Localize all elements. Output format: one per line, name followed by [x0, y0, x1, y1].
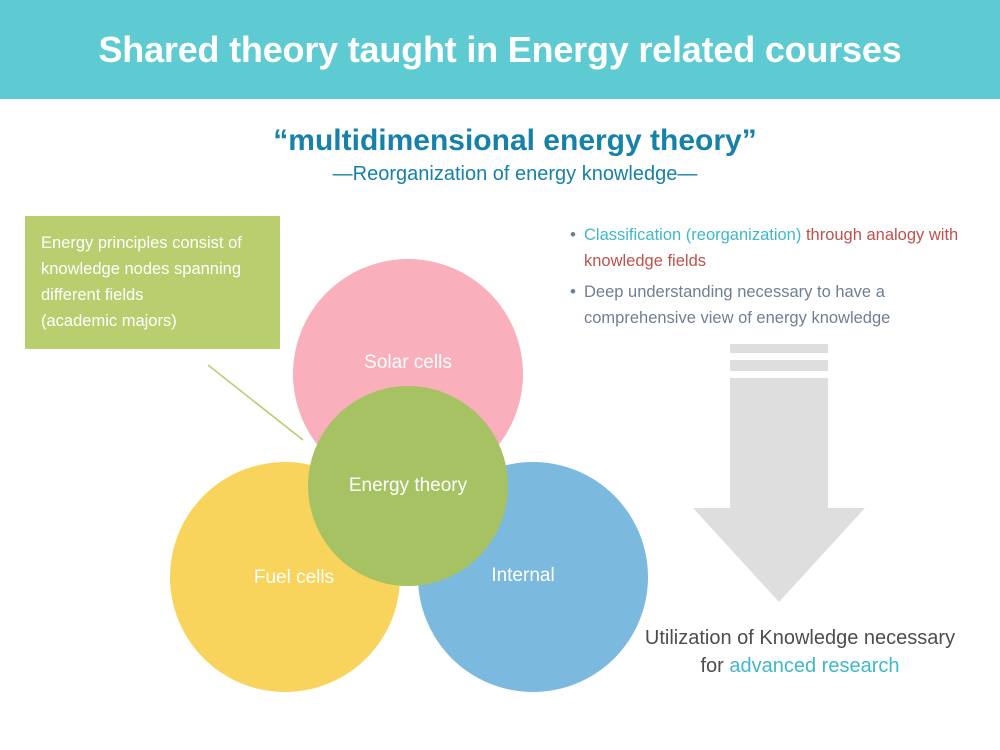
note-line: (academic majors): [41, 308, 264, 334]
caption-prefix: for: [700, 655, 729, 677]
bullet-item: • Classification (reorganization) throug…: [570, 222, 990, 274]
note-callout-box: Energy principles consist of knowledge n…: [25, 216, 280, 349]
subtitle-block: “multidimensional energy theory” —Reorga…: [0, 124, 1000, 186]
venn-label-solar-cells: Solar cells: [364, 352, 452, 374]
venn-label-fuel-cells: Fuel cells: [254, 567, 334, 589]
bullet-segment-classification: Classification (reorganization): [584, 226, 806, 244]
bullet-list: • Classification (reorganization) throug…: [570, 222, 990, 336]
note-line: knowledge nodes spanning: [41, 256, 264, 282]
bottom-caption: Utilization of Knowledge necessary for a…: [610, 624, 990, 680]
caption-line-1: Utilization of Knowledge necessary: [610, 624, 990, 652]
page-title: Shared theory taught in Energy related c…: [0, 0, 1000, 99]
venn-label-internal: Internal: [491, 565, 554, 587]
subtitle-main: “multidimensional energy theory”: [0, 124, 1000, 159]
venn-circle-energy-theory[interactable]: Energy theory: [308, 386, 508, 586]
down-arrow-icon: [680, 340, 910, 610]
bullet-dot-icon: •: [570, 222, 584, 248]
bullet-text: Classification (reorganization) through …: [584, 222, 990, 274]
slide-canvas: Shared theory taught in Energy related c…: [0, 0, 1000, 750]
caption-line-2: for advanced research: [610, 652, 990, 680]
caption-accent: advanced research: [729, 655, 899, 677]
subtitle-sub: —Reorganization of energy knowledge—: [0, 163, 1000, 186]
bullet-dot-icon: •: [570, 279, 584, 305]
bullet-text: Deep understanding necessary to have a c…: [584, 279, 990, 331]
note-line: different fields: [41, 282, 264, 308]
note-line: Energy principles consist of: [41, 230, 264, 256]
bullet-item: • Deep understanding necessary to have a…: [570, 279, 990, 331]
venn-label-energy-theory: Energy theory: [349, 475, 467, 497]
